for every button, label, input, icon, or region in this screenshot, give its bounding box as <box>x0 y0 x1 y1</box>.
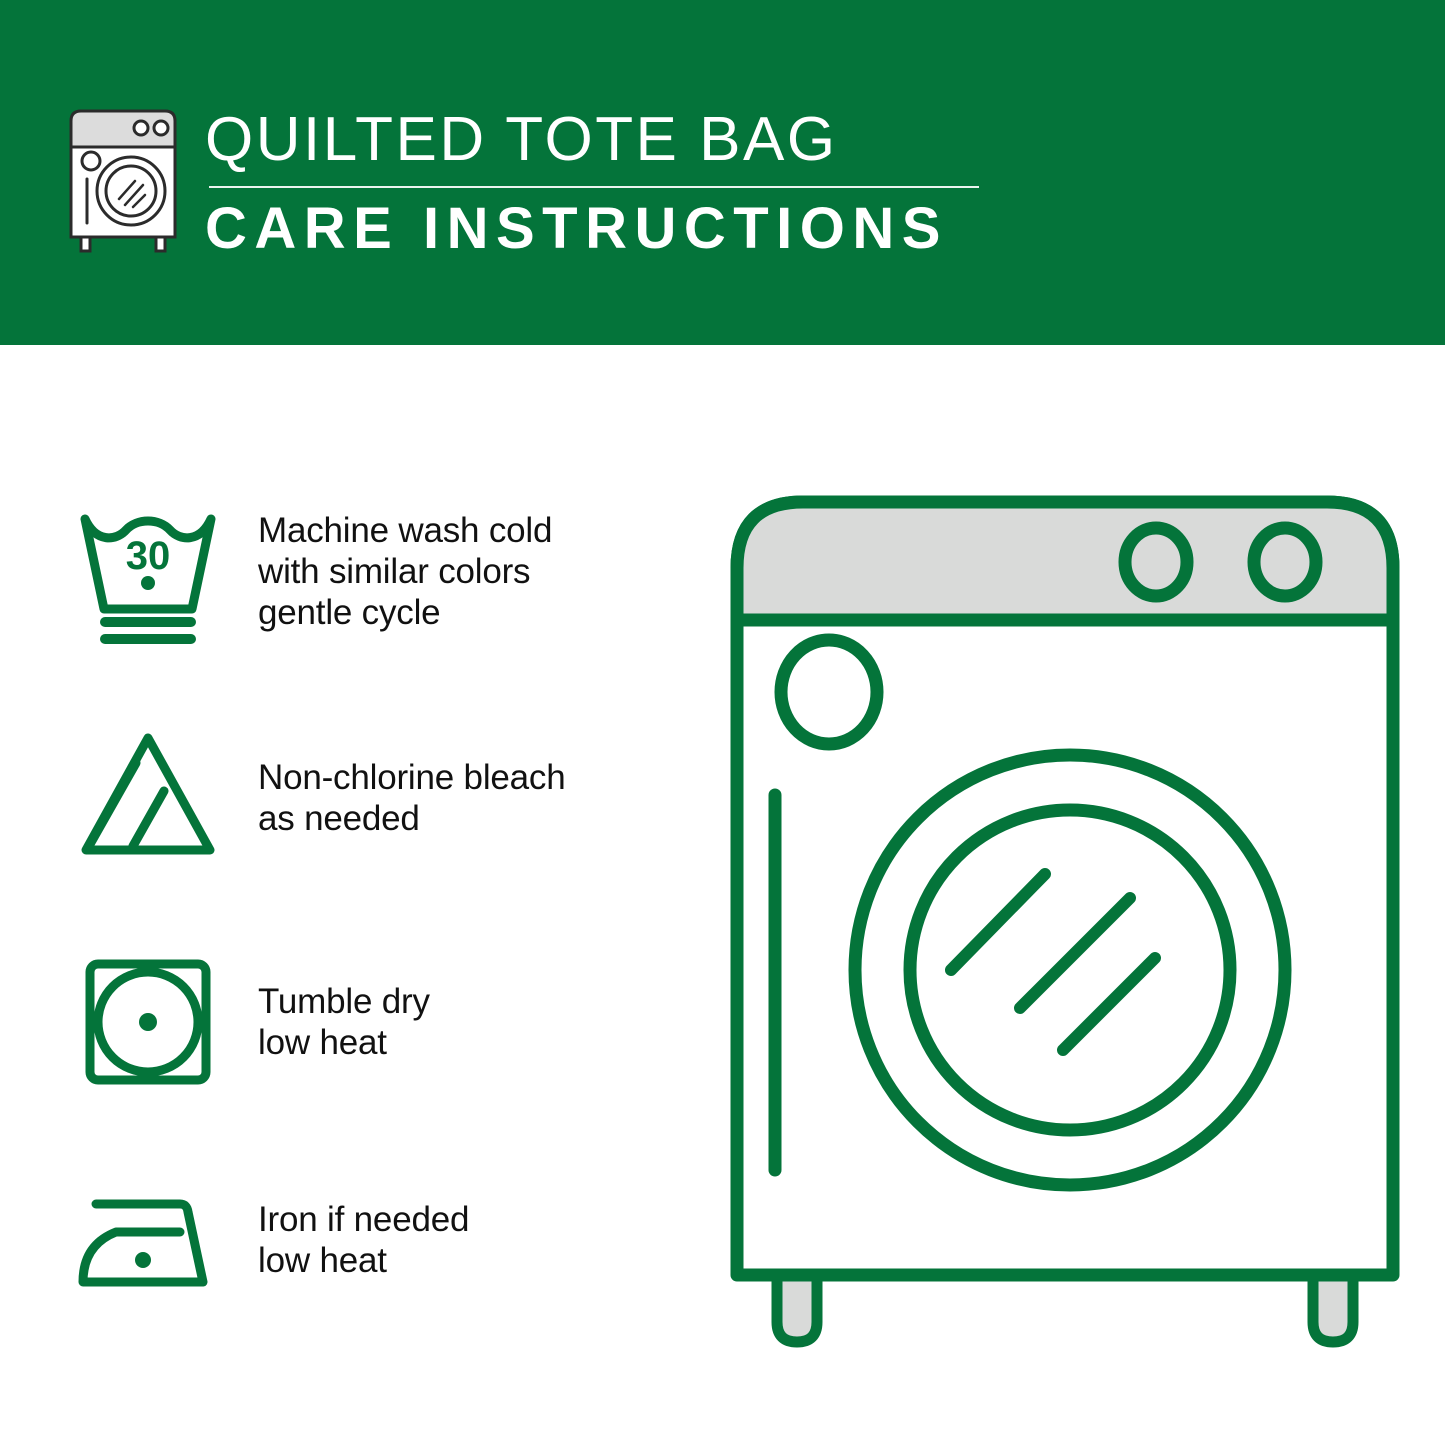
washing-machine-logo-icon <box>63 103 183 255</box>
care-instruction-item: 30 Machine wash cold with similar colors… <box>0 491 700 651</box>
care-instruction-text: Tumble dry low heat <box>258 981 430 1063</box>
machine-wash-30-gentle-symbol: 30 <box>68 491 228 651</box>
care-instruction-item: Tumble dry low heat <box>0 942 700 1102</box>
care-text-line: Tumble dry <box>258 981 430 1022</box>
care-instruction-item: Iron if needed low heat <box>0 1160 700 1320</box>
washing-machine-illustration <box>715 470 1415 1370</box>
tumble-dry-low-symbol <box>68 942 228 1102</box>
non-chlorine-bleach-symbol <box>68 718 228 878</box>
page-subtitle: CARE INSTRUCTIONS <box>205 194 995 264</box>
header-text-block: QUILTED TOTE BAG CARE INSTRUCTIONS <box>205 103 995 264</box>
care-instruction-item: Non-chlorine bleach as needed <box>0 718 700 878</box>
page-title: QUILTED TOTE BAG <box>205 103 995 177</box>
care-text-line: low heat <box>258 1240 469 1281</box>
header-band: QUILTED TOTE BAG CARE INSTRUCTIONS <box>0 0 1445 345</box>
machine-control-panel <box>737 502 1393 620</box>
care-text-line: as needed <box>258 798 566 839</box>
care-text-line: with similar colors <box>258 551 552 592</box>
care-instruction-text: Non-chlorine bleach as needed <box>258 757 566 839</box>
care-text-line: Iron if needed <box>258 1199 469 1240</box>
care-text-line: Non-chlorine bleach <box>258 757 566 798</box>
title-divider <box>209 186 979 188</box>
wash-temperature-label: 30 <box>126 534 171 578</box>
care-instruction-text: Machine wash cold with similar colors ge… <box>258 510 552 633</box>
iron-low-heat-symbol <box>68 1160 228 1320</box>
care-text-line: gentle cycle <box>258 592 552 633</box>
care-text-line: low heat <box>258 1022 430 1063</box>
care-instruction-text: Iron if needed low heat <box>258 1199 469 1281</box>
care-instructions-page: QUILTED TOTE BAG CARE INSTRUCTIONS 30 <box>0 0 1445 1445</box>
care-instruction-list: 30 Machine wash cold with similar colors… <box>0 345 700 1445</box>
care-text-line: Machine wash cold <box>258 510 552 551</box>
